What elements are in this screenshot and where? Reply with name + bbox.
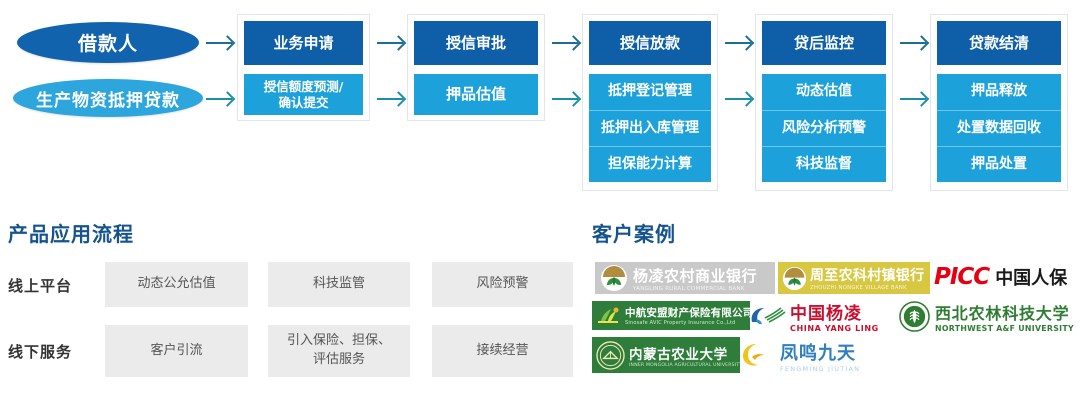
customer-logo[interactable]: 周至农科村镇银行 ZHOUZHI NONGKE VILLAGE BANK	[778, 262, 930, 294]
arrow-col1-to-col2-top	[377, 42, 403, 44]
flow-cell-secondary[interactable]: 押品估值	[414, 74, 538, 115]
flow-column-credit-approval: 授信审批 押品估值	[407, 14, 545, 121]
customer-logo-cn: 周至农科村镇银行	[810, 265, 924, 285]
arrow-col2-to-col3-top	[552, 42, 578, 44]
customer-logo-en: FENGMING JIUTIAN	[780, 365, 860, 372]
flow-cell-secondary[interactable]: 风险分析预警	[762, 110, 886, 146]
process-item[interactable]: 动态公允估值	[105, 262, 248, 307]
phoenix-mark-icon	[738, 341, 778, 371]
flow-cell-primary-label: 贷款结清	[969, 34, 1029, 53]
process-item-label: 接续经营	[476, 342, 528, 361]
customer-logo-cn: 内蒙古农业大学	[629, 343, 740, 363]
arrow-col4-to-col5-top	[900, 42, 926, 44]
flow-entity-collateral-loan[interactable]: 生产物资抵押贷款	[13, 79, 203, 117]
lotus-mark-icon	[781, 265, 807, 291]
process-item[interactable]: 风险预警	[432, 262, 573, 307]
flow-column-post-loan-monitoring: 贷后监控 动态估值 风险分析预警 科技监督	[755, 14, 893, 191]
process-item[interactable]: 接续经营	[432, 325, 573, 377]
customer-logo[interactable]: 中航安盟财产保险有限公司 Sinosafe AVIC Property Insu…	[592, 301, 750, 330]
flow-cell-secondary-label: 科技监督	[796, 156, 852, 174]
flow-cell-primary-label: 业务申请	[273, 34, 333, 53]
customer-logo-cn: 西北农林科技大学	[935, 300, 1074, 324]
customer-logo[interactable]: 内蒙古农业大学 INNER MONGOLIA AGRICULTURAL UNIV…	[592, 337, 740, 373]
flow-cell-secondary-label: 担保能力计算	[608, 156, 692, 174]
loan-process-flow-diagram: 借款人 生产物资抵押贷款 业务申请 授信额度预测/ 确认提交 授信审批	[0, 0, 1080, 200]
process-section-title: 产品应用流程	[8, 218, 134, 247]
customer-logo-en: INNER MONGOLIA AGRICULTURAL UNIVERSITY	[629, 363, 740, 368]
flow-cell-primary[interactable]: 授信放款	[589, 21, 711, 65]
flow-cell-primary-label: 授信放款	[620, 34, 680, 53]
customer-logo[interactable]: 杨凌农村商业银行 YANGLING RURAL COMMERCIAL BANK	[595, 262, 775, 294]
arrow-col2-to-col3-bottom	[552, 98, 578, 100]
customer-logo-cn: 中国人保	[995, 264, 1067, 290]
avic-mark-icon	[595, 304, 621, 328]
flow-cell-secondary-label: 动态估值	[796, 83, 852, 101]
customer-logo-en: NORTHWEST A&F UNIVERSITY	[935, 324, 1074, 333]
imau-seal-mark-icon	[595, 340, 625, 370]
flow-column-credit-disbursement: 授信放款 抵押登记管理 抵押出入库管理 担保能力计算	[582, 14, 718, 191]
flow-cell-secondary[interactable]: 押品释放	[937, 74, 1061, 110]
arrow-col3-to-col4-bottom	[725, 98, 751, 100]
flow-entity-borrower-label: 借款人	[78, 29, 138, 56]
flow-cell-secondary-label: 处置数据回收	[957, 120, 1041, 138]
flow-cell-secondary-label: 押品估值	[446, 85, 506, 104]
flow-cell-secondary[interactable]: 担保能力计算	[589, 146, 711, 182]
flow-cell-secondary[interactable]: 动态估值	[762, 74, 886, 110]
flow-column-loan-settlement: 贷款结清 押品释放 处置数据回收 押品处置	[930, 14, 1068, 191]
customer-logo-en: ZHOUZHI NONGKE VILLAGE BANK	[810, 285, 924, 291]
flow-entity-borrower[interactable]: 借款人	[17, 22, 199, 63]
lotus-mark-icon	[599, 263, 629, 293]
arrow-col1-to-col2-bottom	[377, 98, 403, 100]
cases-section-title: 客户案例	[592, 218, 676, 247]
flow-cell-secondary[interactable]: 处置数据回收	[937, 110, 1061, 146]
customer-logo-en: Sinosafe AVIC Property Insurance Co.,Ltd	[625, 320, 750, 326]
flow-cell-primary[interactable]: 贷后监控	[762, 21, 886, 65]
wheat-bird-mark-icon	[748, 301, 788, 331]
flow-cell-secondary-label: 授信额度预测/ 确认提交	[264, 79, 344, 110]
customer-logo-cn: 中国杨凌	[790, 300, 879, 324]
flow-cell-secondary-label: 抵押出入库管理	[601, 120, 699, 138]
nwafu-seal-mark-icon	[898, 300, 930, 332]
customer-logo[interactable]: 凤鸣九天 FENGMING JIUTIAN	[738, 340, 888, 372]
process-item[interactable]: 科技监管	[268, 262, 410, 307]
flow-cell-primary-label: 贷后监控	[794, 34, 854, 53]
arrow-borrower-to-col1	[206, 42, 232, 44]
flow-cell-secondary-label: 押品处置	[971, 156, 1027, 174]
process-item-label: 科技监管	[313, 275, 365, 294]
customer-logo-cn: 凤鸣九天	[780, 340, 860, 365]
process-item-label: 动态公允估值	[137, 275, 215, 294]
customer-logo-en: YANGLING RURAL COMMERCIAL BANK	[633, 286, 757, 292]
flow-cell-secondary[interactable]: 抵押出入库管理	[589, 110, 711, 146]
process-row-label-offline: 线下服务	[8, 341, 72, 362]
flow-cell-primary[interactable]: 授信审批	[414, 21, 538, 65]
flow-cell-primary[interactable]: 贷款结清	[937, 21, 1061, 65]
customer-logo[interactable]: 西北农林科技大学 NORTHWEST A&F UNIVERSITY	[898, 299, 1076, 333]
flow-cell-primary[interactable]: 业务申请	[244, 21, 363, 65]
arrow-col4-to-col5-bottom	[900, 98, 926, 100]
slide-canvas: 借款人 生产物资抵押贷款 业务申请 授信额度预测/ 确认提交 授信审批	[0, 0, 1080, 401]
flow-entity-collateral-loan-label: 生产物资抵押贷款	[36, 86, 180, 111]
process-row-label-online: 线上平台	[8, 275, 72, 296]
customer-logo[interactable]: PICC 中国人保	[934, 262, 1074, 292]
arrow-collateral-to-col1	[206, 98, 232, 100]
process-item-label: 引入保险、担保、 评估服务	[287, 332, 391, 370]
process-item-label: 客户引流	[150, 342, 202, 361]
flow-cell-secondary[interactable]: 抵押登记管理	[589, 74, 711, 110]
customer-logo-cn: 中航安盟财产保险有限公司	[625, 305, 750, 320]
flow-cell-secondary-label: 风险分析预警	[782, 120, 866, 138]
flow-cell-secondary-label: 抵押登记管理	[608, 83, 692, 101]
flow-cell-primary-label: 授信审批	[446, 34, 506, 53]
arrow-col3-to-col4-top	[725, 42, 751, 44]
process-item-label: 风险预警	[476, 275, 528, 294]
flow-cell-secondary[interactable]: 押品处置	[937, 146, 1061, 182]
customer-logo-en: CHINA YANG LING	[790, 324, 879, 332]
process-item[interactable]: 引入保险、担保、 评估服务	[268, 325, 410, 377]
flow-column-business-application: 业务申请 授信额度预测/ 确认提交	[237, 14, 370, 121]
process-item[interactable]: 客户引流	[105, 325, 248, 377]
flow-cell-secondary-label: 押品释放	[971, 83, 1027, 101]
flow-cell-secondary[interactable]: 科技监督	[762, 146, 886, 182]
customer-logo[interactable]: 中国杨凌 CHINA YANG LING	[748, 300, 900, 332]
flow-cell-secondary[interactable]: 授信额度预测/ 确认提交	[244, 74, 363, 115]
customer-logo-cn: 杨凌农村商业银行	[633, 265, 757, 286]
picc-mark-icon: PICC	[934, 264, 989, 290]
